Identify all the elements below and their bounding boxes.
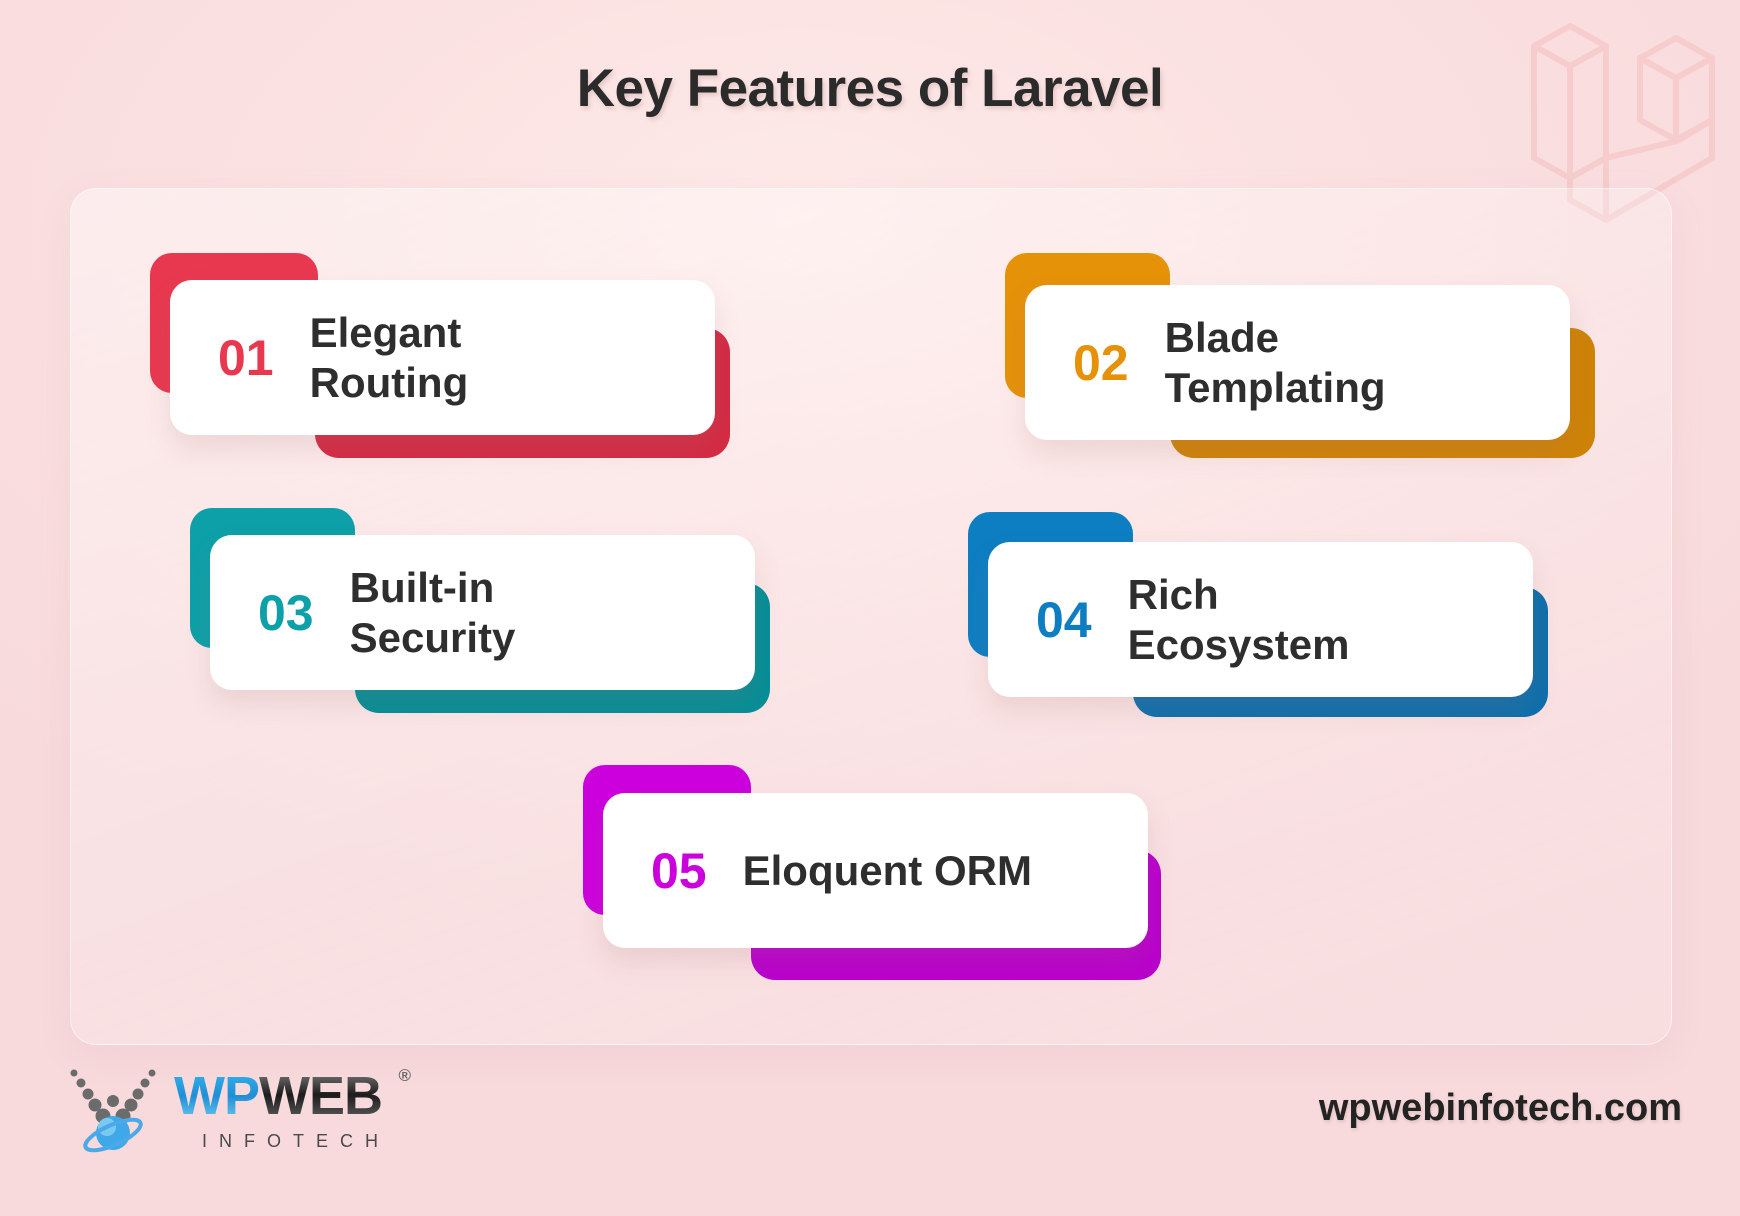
- registered-trademark-icon: ®: [398, 1067, 410, 1084]
- feature-card-04[interactable]: 04 Rich Ecosystem: [968, 512, 1558, 717]
- feature-card-01-face: 01 Elegant Routing: [170, 280, 715, 435]
- feature-card-01-label: Elegant Routing: [310, 308, 469, 407]
- brand-logo-wp: WP: [174, 1066, 259, 1126]
- feature-card-03-number: 03: [258, 588, 314, 638]
- feature-card-04-face: 04 Rich Ecosystem: [988, 542, 1533, 697]
- page-title: Key Features of Laravel: [0, 58, 1740, 119]
- feature-card-01-number: 01: [218, 333, 274, 383]
- feature-card-05-label: Eloquent ORM: [743, 846, 1032, 896]
- feature-card-03[interactable]: 03 Built-in Security: [190, 508, 780, 713]
- feature-card-05-number: 05: [651, 846, 707, 896]
- feature-card-02-face: 02 Blade Templating: [1025, 285, 1570, 440]
- feature-card-01[interactable]: 01 Elegant Routing: [150, 253, 740, 458]
- feature-card-04-label: Rich Ecosystem: [1128, 570, 1350, 669]
- feature-card-02-label: Blade Templating: [1165, 313, 1386, 412]
- brand-logo-web: WEB: [259, 1066, 382, 1126]
- feature-card-05-face: 05 Eloquent ORM: [603, 793, 1148, 948]
- feature-card-04-number: 04: [1036, 595, 1092, 645]
- feature-card-02[interactable]: 02 Blade Templating: [1005, 253, 1605, 458]
- brand-logo-text: WPWEB ® INFOTECH: [174, 1069, 390, 1152]
- wpweb-atom-icon: [60, 1057, 166, 1163]
- brand-logo-subtitle: INFOTECH: [174, 1131, 390, 1152]
- feature-card-02-number: 02: [1073, 338, 1129, 388]
- website-url[interactable]: wpwebinfotech.com: [1319, 1087, 1682, 1130]
- brand-logo[interactable]: WPWEB ® INFOTECH: [60, 1055, 440, 1165]
- feature-card-05[interactable]: 05 Eloquent ORM: [583, 765, 1173, 980]
- feature-card-03-face: 03 Built-in Security: [210, 535, 755, 690]
- feature-card-03-label: Built-in Security: [350, 563, 516, 662]
